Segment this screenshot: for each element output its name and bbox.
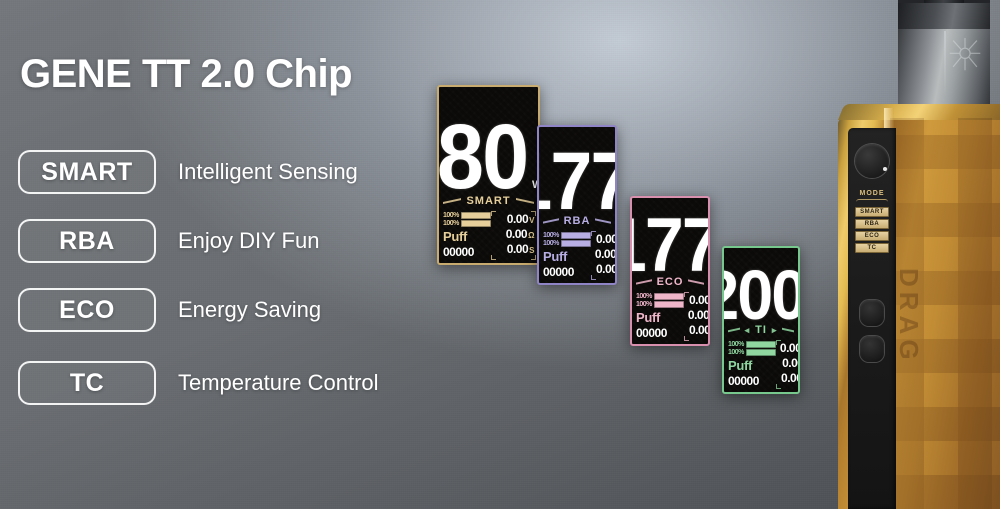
measurements: 0.00W 0.00S 0.00Ω: [780, 341, 800, 388]
feature-pill-smart: SMART: [18, 150, 156, 194]
band-line-right: [688, 279, 704, 284]
battery-row: 100%: [636, 293, 684, 300]
temperature-readout: 200 °F: [724, 248, 798, 323]
resistance-readout: 0.00Ω: [595, 247, 617, 261]
menu-item-smart[interactable]: SMART: [855, 207, 889, 217]
menu-divider: [856, 199, 888, 204]
tank-engraving-icon: [948, 29, 982, 81]
puff-label: Puff: [728, 358, 776, 373]
feature-description: Energy Saving: [178, 297, 321, 323]
mode-screen-smart: 80 W SMART 100% 100% Puff 00000: [437, 85, 540, 265]
band-line-left: [543, 218, 559, 223]
menu-item-rba[interactable]: RBA: [855, 219, 889, 229]
mode-screen-rba: 177 W RBA 100% 100% Puff 00000: [537, 125, 617, 285]
stats-area: 100% 100% Puff 00000 0.00V 0.00Ω: [632, 290, 708, 344]
measurements: 0.00V 0.00Ω 0.00S: [688, 293, 710, 340]
down-button[interactable]: [860, 336, 884, 362]
resistance-unit: Ω: [528, 231, 534, 240]
battery-percent: 100%: [543, 240, 559, 247]
chevron-right-icon[interactable]: ▸: [772, 325, 778, 336]
feature-row-tc: TC Temperature Control: [18, 361, 379, 405]
resistance-readout: 0.00Ω: [688, 308, 710, 322]
coil-type-label: TI: [755, 324, 767, 336]
resistance-value: 0.00: [506, 227, 527, 241]
battery-percent: 100%: [728, 349, 744, 356]
device-front-panel: MODE SMART RBA ECO TC: [848, 128, 896, 509]
battery-row: 100%: [543, 232, 591, 239]
measurements: 0.00V 0.00Ω 0.00S: [495, 212, 534, 259]
duration-readout: 0.00S: [596, 262, 617, 276]
mode-label-band: ECO: [632, 275, 708, 290]
menu-title: MODE: [860, 190, 885, 197]
battery-bar-icon: [561, 240, 591, 247]
menu-item-tc[interactable]: TC: [855, 243, 889, 253]
resistance-readout: 0.00Ω: [506, 227, 534, 241]
device-mode-menu: MODE SMART RBA ECO TC: [853, 190, 891, 253]
feature-row-rba: RBA Enjoy DIY Fun: [18, 219, 319, 263]
voltage-readout: 0.00V: [689, 293, 710, 307]
voltage-value: 0.00: [507, 212, 528, 226]
battery-percent: 100%: [443, 220, 459, 227]
resistance-value: 0.00: [595, 247, 616, 261]
temperature-value: 200: [722, 268, 800, 323]
battery-bar-icon: [654, 293, 684, 300]
wattage-value: 0.00: [780, 341, 800, 355]
duration-readout: 0.00S: [689, 323, 710, 337]
stats-area: 100% 100% Puff 00000 0.00V 0.00Ω: [439, 209, 538, 263]
power-value: 80: [437, 122, 527, 194]
feature-pill-eco: ECO: [18, 288, 156, 332]
puff-label: Puff: [543, 249, 591, 264]
duration-readout: 0.00S: [782, 356, 800, 370]
battery-bar-icon: [561, 232, 591, 239]
voltage-value: 0.00: [689, 293, 710, 307]
band-line-right: [782, 328, 794, 332]
puff-count: 00000: [728, 374, 776, 388]
duration-value: 0.00: [689, 323, 710, 337]
battery-and-puff: 100% 100% Puff 00000: [636, 293, 684, 340]
duration-value: 0.00: [596, 262, 617, 276]
feature-pill-rba: RBA: [18, 219, 156, 263]
battery-row: 100%: [443, 220, 491, 227]
duration-value: 0.00: [507, 242, 528, 256]
battery-bar-icon: [746, 349, 776, 356]
battery-bar-icon: [654, 301, 684, 308]
mode-label-band: SMART: [439, 194, 538, 209]
resistance-value: 0.00: [781, 371, 800, 385]
up-button[interactable]: [860, 300, 884, 326]
page-title: GENE TT 2.0 Chip: [20, 52, 352, 97]
stats-area: 100% 100% Puff 00000 0.00W 0.00S: [724, 338, 798, 392]
resistance-readout: 0.00Ω: [781, 371, 800, 385]
mode-label: ECO: [657, 276, 684, 288]
device-body: DRAG MODE SMART RBA ECO TC: [838, 118, 1000, 509]
battery-percent: 100%: [636, 301, 652, 308]
battery-and-puff: 100% 100% Puff 00000: [443, 212, 491, 259]
mode-label-band: ◂ TI ▸: [724, 323, 798, 338]
battery-percent: 100%: [636, 293, 652, 300]
band-line-left: [728, 328, 740, 332]
stats-area: 100% 100% Puff 00000 0.00V 0.00Ω: [539, 229, 615, 283]
duration-value: 0.00: [782, 356, 800, 370]
power-readout: 80 W: [439, 87, 538, 194]
feature-description: Enjoy DIY Fun: [178, 228, 319, 254]
battery-percent: 100%: [543, 232, 559, 239]
power-readout: 177 W: [632, 198, 708, 275]
puff-count: 00000: [543, 265, 591, 279]
battery-row: 100%: [728, 341, 776, 348]
feature-pill-label: SMART: [41, 158, 132, 187]
band-line-left: [443, 198, 461, 204]
battery-row: 100%: [443, 212, 491, 219]
feature-row-smart: SMART Intelligent Sensing: [18, 150, 358, 194]
power-value: 177: [537, 150, 617, 214]
duration-readout: 0.00S: [507, 242, 534, 256]
feature-pill-tc: TC: [18, 361, 156, 405]
voltage-readout: 0.00V: [507, 212, 534, 226]
battery-row: 100%: [543, 240, 591, 247]
vape-device: DRAG MODE SMART RBA ECO TC: [800, 0, 1000, 509]
battery-percent: 100%: [443, 212, 459, 219]
battery-and-puff: 100% 100% Puff 00000: [543, 232, 591, 279]
menu-item-eco[interactable]: ECO: [855, 231, 889, 241]
power-readout: 177 W: [539, 127, 615, 214]
mode-screen-tc: 200 °F ◂ TI ▸ 100% 100% Puff 00000: [722, 246, 800, 394]
mode-screen-eco: 177 W ECO 100% 100% Puff 00000: [630, 196, 710, 346]
tank-top-cap: [898, 3, 990, 29]
battery-and-puff: 100% 100% Puff 00000: [728, 341, 776, 388]
fire-button[interactable]: [855, 144, 889, 178]
feature-description: Intelligent Sensing: [178, 159, 358, 185]
mode-label-band: RBA: [539, 214, 615, 229]
battery-bar-icon: [461, 212, 491, 219]
brand-logo: DRAG: [893, 268, 924, 365]
battery-row: 100%: [636, 301, 684, 308]
battery-bar-icon: [461, 220, 491, 227]
band-line-right: [595, 218, 611, 223]
voltage-value: 0.00: [596, 232, 617, 246]
feature-row-eco: ECO Energy Saving: [18, 288, 321, 332]
feature-pill-label: ECO: [59, 296, 115, 325]
mode-label: SMART: [466, 195, 510, 207]
feature-pill-label: RBA: [59, 227, 115, 256]
mode-label: RBA: [564, 215, 591, 227]
tank-glass-highlight: [944, 31, 946, 97]
duration-unit: S: [529, 246, 534, 255]
puff-label: Puff: [443, 229, 491, 244]
feature-description: Temperature Control: [178, 370, 379, 396]
resistance-value: 0.00: [688, 308, 709, 322]
battery-bar-icon: [746, 341, 776, 348]
voltage-readout: 0.00V: [596, 232, 617, 246]
puff-label: Puff: [636, 310, 684, 325]
battery-percent: 100%: [728, 341, 744, 348]
puff-count: 00000: [636, 326, 684, 340]
wattage-readout: 0.00W: [780, 341, 800, 355]
puff-count: 00000: [443, 245, 491, 259]
band-line-left: [636, 279, 652, 284]
measurements: 0.00V 0.00Ω 0.00S: [595, 232, 617, 279]
voltage-unit: V: [529, 216, 534, 225]
power-value: 177: [630, 216, 710, 275]
promo-banner: GENE TT 2.0 Chip SMART Intelligent Sensi…: [0, 0, 1000, 509]
feature-pill-label: TC: [70, 369, 104, 398]
battery-row: 100%: [728, 349, 776, 356]
band-line-right: [516, 198, 534, 204]
chevron-left-icon[interactable]: ◂: [745, 325, 751, 336]
